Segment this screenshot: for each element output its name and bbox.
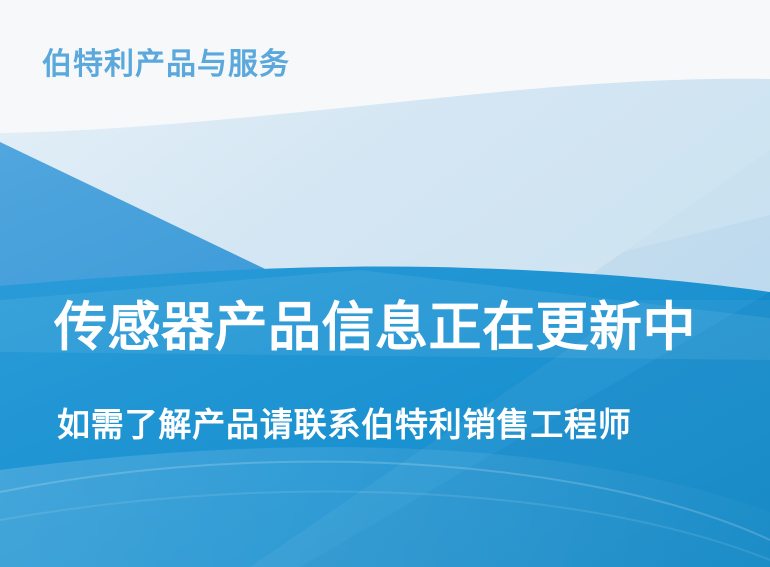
page-title: 伯特利产品与服务 [42, 48, 290, 82]
subtitle-message: 如需了解产品请联系伯特利销售工程师 [57, 405, 632, 445]
headline-message: 传感器产品信息正在更新中 [54, 298, 696, 358]
product-service-banner: 伯特利产品与服务 传感器产品信息正在更新中 如需了解产品请联系伯特利销售工程师 [0, 0, 770, 567]
decorative-background-artwork [0, 0, 770, 567]
